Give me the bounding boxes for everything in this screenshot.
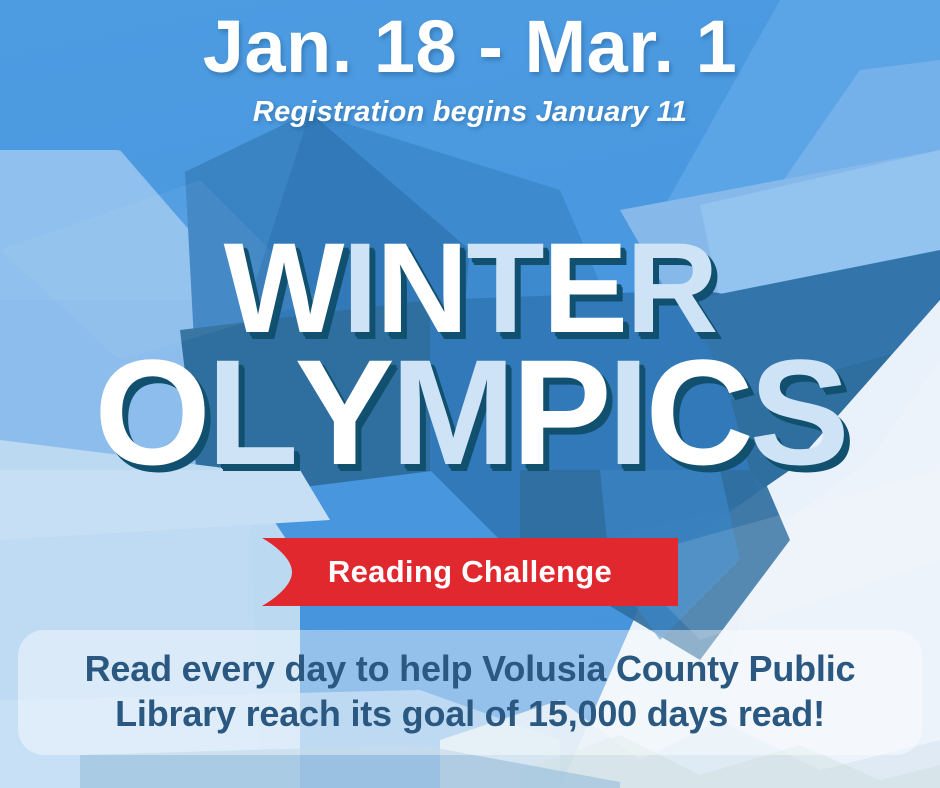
title-olympics-letter-5: P	[512, 339, 608, 486]
title-block: WINTER OLYMPICS	[0, 226, 940, 486]
bottom-message-line-1: Read every day to help Volusia County Pu…	[28, 646, 912, 691]
title-olympics-letter-8: S	[750, 339, 846, 486]
bottom-message-panel: Read every day to help Volusia County Pu…	[18, 630, 922, 755]
date-range-heading: Jan. 18 - Mar. 1	[0, 8, 940, 86]
title-olympics-letter-3: Y	[295, 339, 391, 486]
ribbon-wrap: Reading Challenge	[0, 534, 940, 615]
title-olympics-letter-6: I	[608, 339, 646, 486]
title-olympics-letter-1: O	[94, 339, 207, 486]
ribbon-label: Reading Challenge	[254, 534, 686, 610]
title-olympics-letter-4: M	[391, 339, 512, 486]
reading-challenge-ribbon: Reading Challenge	[254, 534, 686, 610]
title-olympics-letter-7: C	[645, 339, 749, 486]
registration-note: Registration begins January 11	[0, 96, 940, 129]
winter-olympics-reading-challenge-poster: Jan. 18 - Mar. 1 Registration begins Jan…	[0, 0, 940, 788]
title-line-olympics: OLYMPICS	[0, 339, 940, 486]
bottom-message-line-2: Library reach its goal of 15,000 days re…	[28, 691, 912, 736]
header-block: Jan. 18 - Mar. 1 Registration begins Jan…	[0, 8, 940, 129]
title-olympics-letter-2: L	[207, 339, 295, 486]
